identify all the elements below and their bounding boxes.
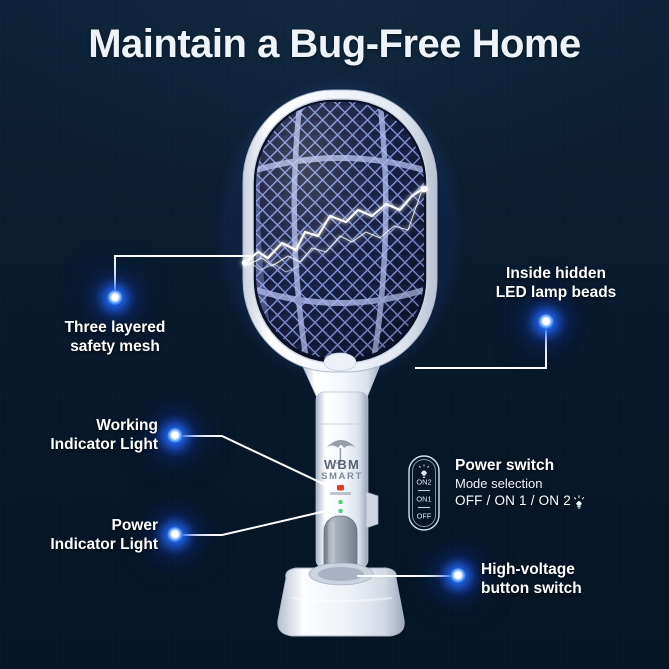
callout-label-high-voltage: High-voltage button switch [481, 560, 667, 598]
leader-line-working [175, 436, 330, 487]
power-switch-info: Power switch Mode selection OFF / ON 1 /… [455, 456, 586, 510]
callout-label-high-voltage-line1: High-voltage [481, 560, 667, 579]
callout-label-mesh-line2: safety mesh [25, 337, 205, 356]
infographic-canvas: Maintain a Bug-Free Home [0, 0, 669, 669]
lamp-icon [572, 495, 586, 510]
power-switch-modes-row: OFF / ON 1 / ON 2 [455, 492, 586, 510]
callout-dot-mesh[interactable] [107, 290, 123, 306]
callout-dot-led[interactable] [538, 314, 554, 330]
switch-pos-on1: ON1 [416, 495, 431, 504]
switch-pos-off: OFF [417, 512, 432, 521]
callout-label-power-indicator: Power Indicator Light [0, 516, 158, 554]
callout-label-working-line1: Working [0, 416, 158, 435]
lamp-icon [419, 465, 428, 478]
callout-dot-high-voltage[interactable] [450, 568, 466, 584]
callout-label-working-line2: Indicator Light [0, 435, 158, 454]
power-switch-subtitle: Mode selection [455, 475, 586, 492]
callout-label-led-line1: Inside hidden [456, 264, 656, 283]
callout-label-power-line2: Indicator Light [0, 535, 158, 554]
callout-label-working-indicator: Working Indicator Light [0, 416, 158, 454]
callout-label-high-voltage-line2: button switch [481, 579, 667, 598]
callout-label-mesh: Three layered safety mesh [25, 318, 205, 356]
page-title: Maintain a Bug-Free Home [0, 22, 669, 67]
power-switch-title: Power switch [455, 456, 586, 475]
power-switch-diagram: ON2 ON1 OFF [402, 454, 446, 532]
power-switch-modes: OFF / ON 1 / ON 2 [455, 492, 571, 510]
callout-label-mesh-line1: Three layered [25, 318, 205, 337]
leader-line-led [416, 322, 546, 368]
leader-line-power [175, 510, 330, 535]
callout-label-power-line1: Power [0, 516, 158, 535]
callout-label-led-line2: LED lamp beads [456, 283, 656, 302]
callout-dot-power-indicator[interactable] [167, 527, 183, 543]
callout-dot-working-indicator[interactable] [167, 428, 183, 444]
callout-label-led: Inside hidden LED lamp beads [456, 264, 656, 302]
switch-pos-on2: ON2 [416, 478, 431, 487]
leader-line-mesh [115, 256, 250, 298]
